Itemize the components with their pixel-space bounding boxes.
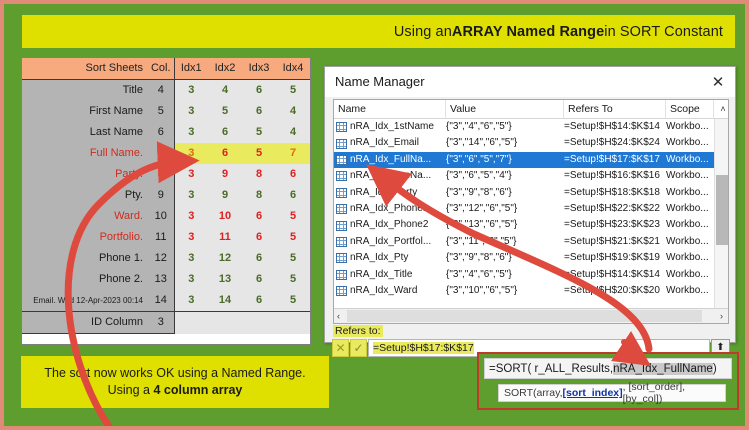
row-label: Phone 1.: [22, 248, 148, 269]
refers-to-cell: =Setup!$H$18:$K$18: [564, 185, 666, 201]
value-cell: {"3","10","6","5"}: [446, 283, 564, 299]
name-cell: nRA_Idx_FullNa...: [334, 152, 446, 168]
note-line-2-bold: 4 column array: [153, 383, 242, 397]
row-col-number: 4: [148, 80, 174, 102]
name-cell: nRA_Idx_LasNa...: [334, 168, 446, 184]
vertical-scrollbar-thumb[interactable]: [716, 175, 728, 245]
column-header-value[interactable]: Value: [446, 100, 564, 119]
row-idx3-value: 6: [242, 248, 276, 269]
note-banner: The sort now works OK using a Named Rang…: [21, 356, 329, 408]
vertical-scrollbar[interactable]: [714, 119, 728, 308]
row-idx4-value: 5: [276, 80, 310, 102]
spreadsheet-panel: Sort Sheets Col. Idx1 Idx2 Idx3 Idx4 Tit…: [21, 57, 311, 345]
row-idx4-value: 5: [276, 290, 310, 312]
name-manager-row[interactable]: nRA_Idx_Ward{"3","10","6","5"}=Setup!$H$…: [334, 283, 728, 299]
table-row[interactable]: Title43465: [22, 80, 310, 102]
row-idx4-value: 4: [276, 122, 310, 143]
value-cell: {"3","12","6","5"}: [446, 201, 564, 217]
scope-cell: Workbo...: [666, 201, 714, 217]
names-list-inner: nRA_Idx_1stName{"3","4","6","5"}=Setup!$…: [334, 119, 728, 299]
chevron-right-icon[interactable]: ›: [720, 311, 727, 321]
row-col-number: 6: [148, 122, 174, 143]
range-grid-icon: [336, 237, 347, 247]
value-cell: {"3","4","6","5"}: [446, 267, 564, 283]
footer-blank-cell: [174, 312, 208, 334]
row-idx1-value: 3: [174, 185, 208, 206]
range-grid-icon: [336, 221, 347, 231]
row-idx3-value: 6: [242, 80, 276, 102]
tooltip-suffix: , [sort_order], [by_col]): [623, 381, 725, 405]
value-cell: {"3","9","8","6"}: [446, 250, 564, 266]
scope-cell: Workbo...: [666, 119, 714, 135]
formula-callout: =SORT( r_ALL_Results,nRA_Idx_FullName ) …: [477, 352, 739, 410]
refers-to-cell: =Setup!$H$23:$K$23: [564, 217, 666, 233]
table-row[interactable]: Party.83986: [22, 164, 310, 185]
name-manager-row[interactable]: nRA_Idx_Portfol...{"3","11","6","5"}=Set…: [334, 234, 728, 250]
row-col-number: 10: [148, 206, 174, 227]
row-label: Party.: [22, 164, 148, 185]
name-manager-row[interactable]: nRA_Idx_Email{"3","14","6","5"}=Setup!$H…: [334, 135, 728, 151]
scope-cell: Workbo...: [666, 185, 714, 201]
table-row[interactable]: Portfolio.1131165: [22, 227, 310, 248]
table-row[interactable]: Last Name63654: [22, 122, 310, 143]
value-cell: {"3","6","5","4"}: [446, 168, 564, 184]
table-row[interactable]: Ward.1031065: [22, 206, 310, 227]
range-grid-icon: [336, 253, 347, 263]
name-text: nRA_Idx_Phone1: [350, 201, 428, 217]
dialog-title: Name Manager: [335, 74, 707, 89]
row-idx2-value: 5: [208, 101, 242, 122]
name-text: nRA_Idx_FullNa...: [350, 152, 431, 168]
row-idx4-value: 5: [276, 248, 310, 269]
tooltip-current-arg: [sort_index]: [563, 387, 623, 399]
refers-to-label: Refers to:: [333, 325, 383, 337]
name-cell: nRA_Idx_Portfol...: [334, 234, 446, 250]
name-manager-row[interactable]: nRA_Idx_Phone1{"3","12","6","5"}=Setup!$…: [334, 201, 728, 217]
footer-blank-cell: [276, 312, 310, 334]
refers-to-cell: =Setup!$H$17:$K$17: [564, 152, 666, 168]
row-label: Phone 2.: [22, 269, 148, 290]
value-cell: {"3","6","5","7"}: [446, 152, 564, 168]
name-manager-row[interactable]: nRA_Idx_Party{"3","9","8","6"}=Setup!$H$…: [334, 185, 728, 201]
value-cell: {"3","9","8","6"}: [446, 185, 564, 201]
range-grid-icon: [336, 171, 347, 181]
name-cell: nRA_Idx_Pty: [334, 250, 446, 266]
name-cell: nRA_Idx_Party: [334, 185, 446, 201]
formula-prefix: =SORT( r_ALL_Results,: [489, 363, 613, 375]
table-row[interactable]: Full Name.73657: [22, 143, 310, 164]
row-label: Last Name: [22, 122, 148, 143]
footer-col-number: 3: [148, 312, 174, 334]
name-text: nRA_Idx_Title: [350, 267, 412, 283]
row-col-number: 14: [148, 290, 174, 312]
header-idx4: Idx4: [276, 58, 310, 80]
row-label: Pty.: [22, 185, 148, 206]
row-idx4-value: 6: [276, 185, 310, 206]
names-list-panel: Name Value Refers To Scope ˄ nRA_Idx_1st…: [333, 99, 729, 324]
header-idx1: Idx1: [174, 58, 208, 80]
row-label: First Name: [22, 101, 148, 122]
row-col-number: 5: [148, 101, 174, 122]
name-text: nRA_Idx_Phone2: [350, 217, 428, 233]
table-row[interactable]: First Name53564: [22, 101, 310, 122]
row-idx3-value: 5: [242, 143, 276, 164]
range-grid-icon: [336, 188, 347, 198]
column-header-refers-to[interactable]: Refers To: [564, 100, 666, 119]
row-idx2-value: 10: [208, 206, 242, 227]
row-idx1-value: 3: [174, 248, 208, 269]
scope-cell: Workbo...: [666, 283, 714, 299]
row-col-number: 13: [148, 269, 174, 290]
row-idx1-value: 3: [174, 143, 208, 164]
row-idx2-value: 9: [208, 185, 242, 206]
scope-cell: Workbo...: [666, 267, 714, 283]
note-line-2-before: Using a: [108, 383, 154, 397]
horizontal-scrollbar-thumb[interactable]: [347, 310, 702, 322]
chevron-left-icon[interactable]: ‹: [335, 311, 340, 321]
refers-to-value: =Setup!$H$17:$K$17: [373, 342, 474, 354]
row-idx3-value: 8: [242, 185, 276, 206]
refers-to-cell: =Setup!$H$22:$K$22: [564, 201, 666, 217]
name-text: nRA_Idx_LasNa...: [350, 168, 431, 184]
range-grid-icon: [336, 155, 347, 165]
scope-cell: Workbo...: [666, 135, 714, 151]
row-label: Portfolio.: [22, 227, 148, 248]
name-cell: nRA_Idx_Phone1: [334, 201, 446, 217]
row-col-number: 11: [148, 227, 174, 248]
table-body: Title43465First Name53564Last Name63654F…: [22, 80, 310, 334]
name-manager-row[interactable]: nRA_Idx_1stName{"3","4","6","5"}=Setup!$…: [334, 119, 728, 135]
row-idx2-value: 6: [208, 122, 242, 143]
header-idx3: Idx3: [242, 58, 276, 80]
column-header-scope[interactable]: Scope: [666, 100, 714, 119]
scope-cell: Workbo...: [666, 250, 714, 266]
table-row[interactable]: Phone 2.1331365: [22, 269, 310, 290]
title-text-bold: ARRAY Named Range: [452, 24, 604, 40]
row-label: Title: [22, 80, 148, 102]
row-idx1-value: 3: [174, 227, 208, 248]
value-cell: {"3","14","6","5"}: [446, 135, 564, 151]
row-idx2-value: 14: [208, 290, 242, 312]
name-text: nRA_Idx_Portfol...: [350, 234, 431, 250]
row-idx3-value: 6: [242, 269, 276, 290]
row-label: Full Name.: [22, 143, 148, 164]
title-text-before: Using an: [394, 24, 452, 40]
name-cell: nRA_Idx_Email: [334, 135, 446, 151]
name-manager-row[interactable]: nRA_Idx_Title{"3","4","6","5"}=Setup!$H$…: [334, 267, 728, 283]
row-idx1-value: 3: [174, 206, 208, 227]
table-row[interactable]: Pty.93986: [22, 185, 310, 206]
row-idx2-value: 9: [208, 164, 242, 185]
note-line-1: The sort now works OK using a Named Rang…: [44, 365, 305, 382]
range-grid-icon: [336, 122, 347, 132]
footer-blank-cell: [242, 312, 276, 334]
range-grid-icon: [336, 204, 347, 214]
refers-to-cell: =Setup!$H$14:$K$14: [564, 119, 666, 135]
name-cell: nRA_Idx_Ward: [334, 283, 446, 299]
tooltip-prefix: SORT(array,: [504, 387, 563, 399]
close-icon[interactable]: ✕: [707, 72, 729, 92]
name-manager-row[interactable]: nRA_Idx_Pty{"3","9","8","6"}=Setup!$H$19…: [334, 250, 728, 266]
header-sort-sheets: Sort Sheets: [22, 58, 148, 80]
name-cell: nRA_Idx_1stName: [334, 119, 446, 135]
row-idx2-value: 6: [208, 143, 242, 164]
row-idx1-value: 3: [174, 290, 208, 312]
column-header-name[interactable]: Name: [334, 100, 446, 119]
title-text-after: in SORT Constant: [604, 24, 723, 40]
range-grid-icon: [336, 286, 347, 296]
note-line-2: Using a 4 column array: [108, 382, 243, 399]
title-banner: Using an ARRAY Named Range in SORT Const…: [22, 15, 735, 48]
names-list-rows[interactable]: nRA_Idx_1stName{"3","4","6","5"}=Setup!$…: [334, 119, 728, 308]
row-col-number: 9: [148, 185, 174, 206]
row-label: Email. Wed 12-Apr-2023 00:14: [22, 290, 148, 312]
row-idx4-value: 7: [276, 143, 310, 164]
row-col-number: 12: [148, 248, 174, 269]
footer-label: ID Column: [22, 312, 148, 334]
confirm-edit-icon[interactable]: ✓: [350, 339, 367, 357]
row-idx1-value: 3: [174, 122, 208, 143]
row-idx2-value: 12: [208, 248, 242, 269]
row-idx4-value: 5: [276, 206, 310, 227]
formula-input[interactable]: =SORT( r_ALL_Results,nRA_Idx_FullName ): [484, 358, 732, 379]
value-cell: {"3","11","6","5"}: [446, 234, 564, 250]
header-idx2: Idx2: [208, 58, 242, 80]
row-idx2-value: 13: [208, 269, 242, 290]
row-idx1-value: 3: [174, 80, 208, 102]
names-list-header: Name Value Refers To Scope ˄: [334, 100, 728, 119]
row-idx4-value: 6: [276, 164, 310, 185]
formula-selected-arg: nRA_Idx_FullName: [613, 363, 713, 375]
row-idx4-value: 5: [276, 269, 310, 290]
row-idx3-value: 5: [242, 122, 276, 143]
refers-to-cell: =Setup!$H$24:$K$24: [564, 135, 666, 151]
table-footer-row: ID Column3: [22, 312, 310, 334]
row-idx4-value: 4: [276, 101, 310, 122]
name-manager-row[interactable]: nRA_Idx_Phone2{"3","13","6","5"}=Setup!$…: [334, 217, 728, 233]
name-cell: nRA_Idx_Phone2: [334, 217, 446, 233]
row-idx1-value: 3: [174, 164, 208, 185]
formula-suffix: ): [713, 363, 717, 375]
range-grid-icon: [336, 139, 347, 149]
name-text: nRA_Idx_1stName: [350, 119, 434, 135]
screenshot-root: Using an ARRAY Named Range in SORT Const…: [0, 0, 749, 430]
value-cell: {"3","13","6","5"}: [446, 217, 564, 233]
refers-to-cell: =Setup!$H$14:$K$14: [564, 267, 666, 283]
scope-cell: Workbo...: [666, 168, 714, 184]
table-row[interactable]: Email. Wed 12-Apr-2023 00:141431465: [22, 290, 310, 312]
name-cell: nRA_Idx_Title: [334, 267, 446, 283]
row-idx1-value: 3: [174, 269, 208, 290]
horizontal-scrollbar[interactable]: ‹ ›: [334, 308, 728, 323]
name-text: nRA_Idx_Email: [350, 135, 419, 151]
row-idx4-value: 5: [276, 227, 310, 248]
row-idx1-value: 3: [174, 101, 208, 122]
row-idx3-value: 6: [242, 227, 276, 248]
row-idx2-value: 4: [208, 80, 242, 102]
row-idx3-value: 6: [242, 101, 276, 122]
value-cell: {"3","4","6","5"}: [446, 119, 564, 135]
footer-blank-cell: [208, 312, 242, 334]
row-label: Ward.: [22, 206, 148, 227]
dialog-titlebar: Name Manager ✕: [325, 67, 735, 97]
row-idx2-value: 11: [208, 227, 242, 248]
refers-to-cell: =Setup!$H$19:$K$19: [564, 250, 666, 266]
table-header-row: Sort Sheets Col. Idx1 Idx2 Idx3 Idx4: [22, 58, 310, 80]
row-col-number: 8: [148, 164, 174, 185]
refers-to-cell: =Setup!$H$16:$K$16: [564, 168, 666, 184]
row-col-number: 7: [148, 143, 174, 164]
name-text: nRA_Idx_Pty: [350, 250, 408, 266]
name-manager-row[interactable]: nRA_Idx_LasNa...{"3","6","5","4"}=Setup!…: [334, 168, 728, 184]
name-text: nRA_Idx_Ward: [350, 283, 417, 299]
row-idx3-value: 6: [242, 206, 276, 227]
table-row[interactable]: Phone 1.1231265: [22, 248, 310, 269]
sort-sheets-table: Sort Sheets Col. Idx1 Idx2 Idx3 Idx4 Tit…: [22, 58, 310, 334]
refers-to-cell: =Setup!$H$20:$K$20: [564, 283, 666, 299]
range-grid-icon: [336, 270, 347, 280]
name-manager-row[interactable]: nRA_Idx_FullNa...{"3","6","5","7"}=Setup…: [334, 152, 728, 168]
formula-tooltip: SORT(array, [sort_index], [sort_order], …: [498, 384, 726, 402]
chevron-up-icon[interactable]: ˄: [714, 100, 728, 119]
name-manager-dialog[interactable]: Name Manager ✕ Name Value Refers To Scop…: [324, 66, 736, 343]
cancel-edit-icon[interactable]: ✕: [332, 339, 349, 357]
name-text: nRA_Idx_Party: [350, 185, 417, 201]
scope-cell: Workbo...: [666, 234, 714, 250]
scope-cell: Workbo...: [666, 152, 714, 168]
row-idx3-value: 6: [242, 290, 276, 312]
scope-cell: Workbo...: [666, 217, 714, 233]
row-idx3-value: 8: [242, 164, 276, 185]
refers-to-cell: =Setup!$H$21:$K$21: [564, 234, 666, 250]
header-col: Col.: [148, 58, 174, 80]
